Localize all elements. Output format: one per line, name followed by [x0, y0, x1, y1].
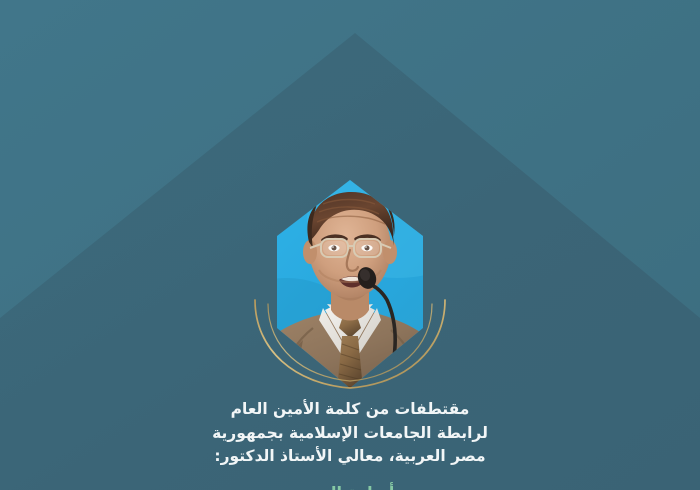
portrait-medallion — [247, 178, 453, 390]
portrait-photo — [207, 158, 487, 418]
caption-line-1: مقتطفات من كلمة الأمين العام — [0, 398, 700, 422]
poster-canvas: مقتطفات من كلمة الأمين العام لرابطة الجا… — [0, 0, 700, 490]
caption-line-2: لرابطة الجامعات الإسلامية بجمهورية — [0, 422, 700, 446]
portrait-medallion-svg — [247, 178, 453, 390]
caption-block: مقتطفات من كلمة الأمين العام لرابطة الجا… — [0, 398, 700, 469]
caption-line-3: مصر العربية، معالي الأستاذ الدكتور: — [0, 445, 700, 469]
speaker-name: أسامة العبد — [0, 481, 700, 490]
